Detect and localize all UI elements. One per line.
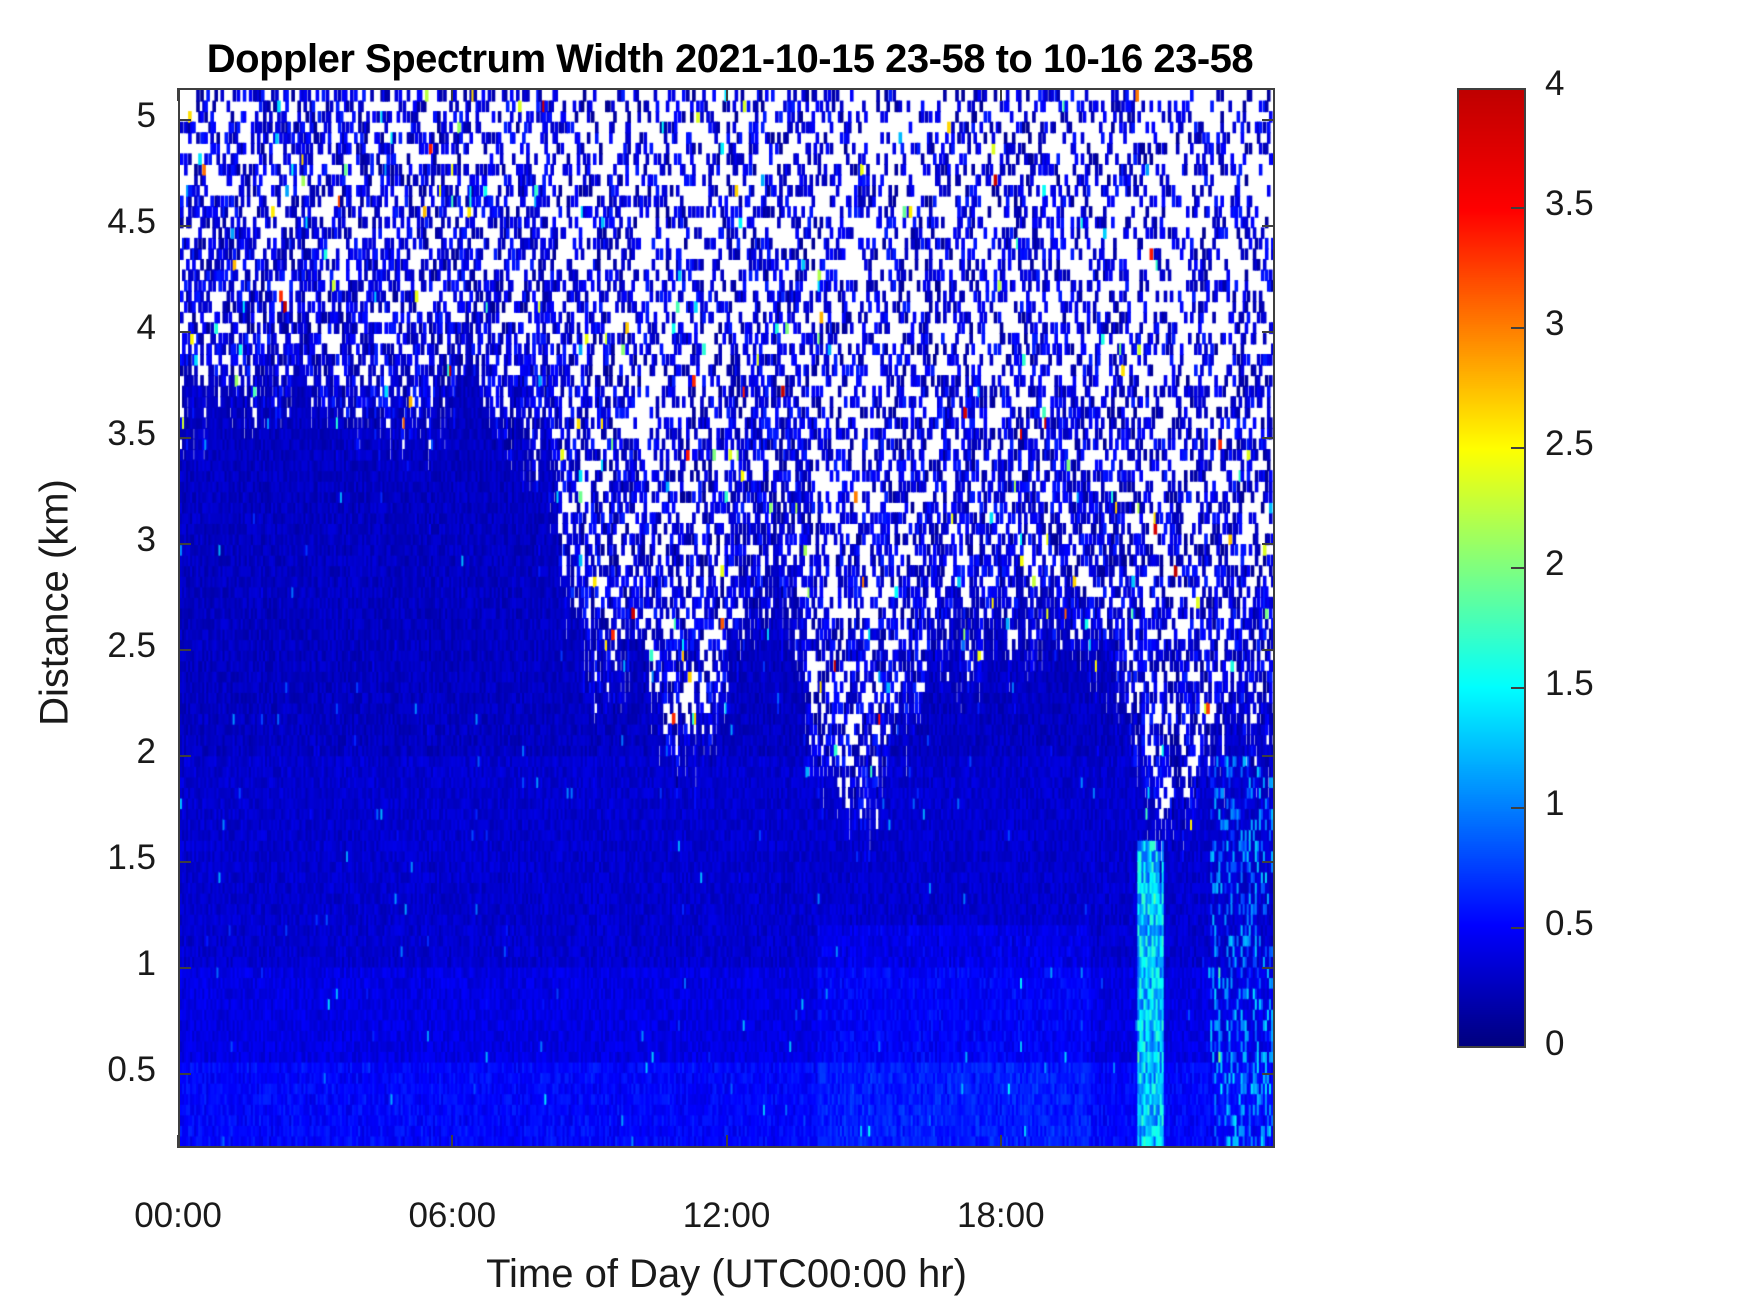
x-tick-label: 06:00 (362, 1196, 542, 1236)
colorbar-tick-label: 1 (1545, 784, 1564, 824)
colorbar-tick-mark (1511, 447, 1526, 449)
x-tick-mark (726, 1135, 728, 1148)
heatmap-image[interactable] (180, 90, 1273, 1146)
y-tick-mark (178, 755, 191, 757)
colorbar-tick-mark (1511, 927, 1526, 929)
y-tick-label: 2.5 (107, 626, 156, 666)
y-tick-mark (178, 331, 191, 333)
y-tick-label: 3 (137, 520, 156, 560)
colorbar-tick-label: 1.5 (1545, 664, 1594, 704)
x-tick-mark (177, 1135, 179, 1148)
y-tick-label: 0.5 (107, 1050, 156, 1090)
y-tick-mark-right (1262, 119, 1275, 121)
y-tick-mark (178, 225, 191, 227)
colorbar-tick-label: 2 (1545, 544, 1564, 584)
page-title: Doppler Spectrum Width 2021-10-15 23-58 … (180, 36, 1280, 82)
x-tick-label: 00:00 (88, 1196, 268, 1236)
colorbar-tick-label: 0 (1545, 1024, 1564, 1064)
colorbar-tick-label: 4 (1545, 64, 1564, 104)
y-axis-label: Distance (km) (33, 253, 78, 953)
y-tick-mark-right (1262, 437, 1275, 439)
y-tick-mark (178, 543, 191, 545)
y-tick-mark (178, 649, 191, 651)
y-tick-mark (178, 861, 191, 863)
x-axis-label: Time of Day (UTC00:00 hr) (178, 1252, 1275, 1297)
colorbar-tick-mark (1511, 687, 1526, 689)
y-tick-mark (178, 437, 191, 439)
y-tick-label: 5 (137, 96, 156, 136)
colorbar-tick-mark (1511, 807, 1526, 809)
colorbar-tick-mark (1511, 327, 1526, 329)
colorbar-tick-label: 3.5 (1545, 184, 1594, 224)
y-tick-mark-right (1262, 649, 1275, 651)
y-tick-mark (178, 119, 191, 121)
y-tick-label: 2 (137, 732, 156, 772)
y-tick-mark-right (1262, 861, 1275, 863)
heatmap-axes[interactable] (178, 88, 1275, 1148)
x-tick-mark (1000, 1135, 1002, 1148)
x-tick-mark-top (451, 88, 453, 101)
x-tick-label: 18:00 (911, 1196, 1091, 1236)
y-tick-label: 1.5 (107, 838, 156, 878)
x-tick-mark-top (177, 88, 179, 101)
y-tick-mark-right (1262, 967, 1275, 969)
y-tick-label: 4.5 (107, 202, 156, 242)
y-tick-mark-right (1262, 543, 1275, 545)
x-tick-mark-top (726, 88, 728, 101)
colorbar-tick-mark (1511, 207, 1526, 209)
y-tick-label: 3.5 (107, 414, 156, 454)
y-tick-mark-right (1262, 225, 1275, 227)
y-tick-label: 4 (137, 308, 156, 348)
x-tick-mark (451, 1135, 453, 1148)
figure-canvas: Doppler Spectrum Width 2021-10-15 23-58 … (0, 0, 1750, 1313)
colorbar-tick-mark (1511, 567, 1526, 569)
x-tick-mark-top (1000, 88, 1002, 101)
y-tick-mark-right (1262, 331, 1275, 333)
y-tick-mark (178, 1073, 191, 1075)
colorbar-tick-label: 3 (1545, 304, 1564, 344)
x-tick-label: 12:00 (637, 1196, 817, 1236)
colorbar-tick-label: 0.5 (1545, 904, 1594, 944)
y-tick-mark-right (1262, 755, 1275, 757)
y-tick-mark-right (1262, 1073, 1275, 1075)
colorbar-tick-label: 2.5 (1545, 424, 1594, 464)
y-tick-mark (178, 967, 191, 969)
y-tick-label: 1 (137, 944, 156, 984)
